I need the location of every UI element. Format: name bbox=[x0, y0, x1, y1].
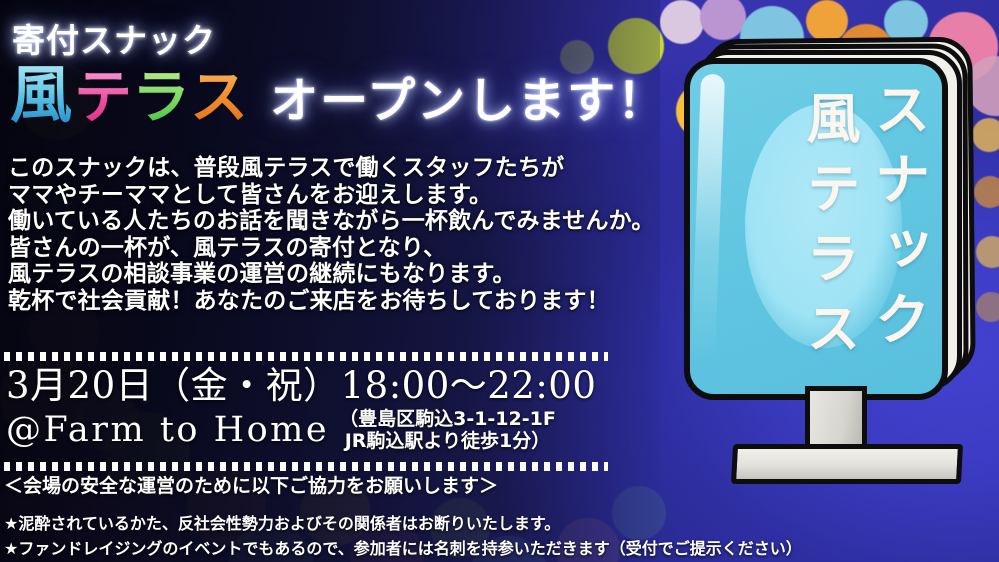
main-title: 風 テ ラ ス オープンします！ bbox=[10, 64, 667, 126]
poster-canvas: 寄付スナック 風 テ ラ ス オープンします！ このスナックは、普段風テラスで働… bbox=[0, 0, 999, 562]
open-announcement: オープンします！ bbox=[270, 76, 667, 126]
poster-content: 寄付スナック 風 テ ラ ス オープンします！ このスナックは、普段風テラスで働… bbox=[0, 0, 999, 562]
body-line: 風テラスの相談事業の運営の継続にもなります。 bbox=[8, 261, 648, 288]
signboard-text-snack: スナック bbox=[869, 80, 926, 360]
note-item: ★ファンドレイジングのイベントでもあるので、参加者には名刺を持参いただきます（受… bbox=[4, 536, 794, 561]
divider-top bbox=[4, 352, 608, 361]
body-line: 乾杯で社会貢献！あなたのご来店をお待ちしております！ bbox=[8, 288, 648, 315]
body-line: 皆さんの一杯が、風テラスの寄付となり、 bbox=[8, 235, 648, 262]
event-details: 3月20日（金・祝）18:00〜22:00 @Farm to Home （豊島区… bbox=[6, 366, 646, 452]
signboard-shine bbox=[691, 74, 725, 365]
body-line: 働いている人たちのお話を聞きながら一杯飲んでみませんか。 bbox=[8, 208, 648, 235]
address-line-2: JR駒込駅より徒歩1分） bbox=[345, 430, 551, 452]
kicker-heading: 寄付スナック bbox=[12, 14, 216, 62]
event-address: （豊島区駒込3-1-12-1F JR駒込駅より徒歩1分） bbox=[339, 408, 556, 452]
event-venue: @Farm to Home bbox=[6, 410, 329, 450]
address-line-1: （豊島区駒込3-1-12-1F bbox=[339, 408, 556, 430]
body-line: このスナックは、普段風テラスで働くスタッフたちが bbox=[8, 155, 648, 182]
event-datetime: 3月20日（金・祝）18:00〜22:00 bbox=[6, 366, 646, 406]
venue-row: @Farm to Home （豊島区駒込3-1-12-1F JR駒込駅より徒歩1… bbox=[6, 408, 646, 452]
title-char-te: テ bbox=[74, 68, 132, 126]
body-copy: このスナックは、普段風テラスで働くスタッフたちが ママやチーママとして皆さんをお… bbox=[8, 155, 648, 314]
title-char-su: ス bbox=[190, 68, 248, 126]
signboard-panel: スナック 風テラス bbox=[684, 58, 948, 400]
title-char-ra: ラ bbox=[132, 68, 190, 126]
signboard-illustration: スナック 風テラス bbox=[672, 28, 992, 528]
signboard-text-kazeterrace: 風テラス bbox=[801, 90, 856, 370]
divider-bottom bbox=[4, 462, 608, 471]
title-char-kaze: 風 bbox=[10, 64, 74, 126]
body-line: ママやチーママとして皆さんをお迎えします。 bbox=[8, 182, 648, 209]
signboard-base bbox=[731, 444, 963, 484]
